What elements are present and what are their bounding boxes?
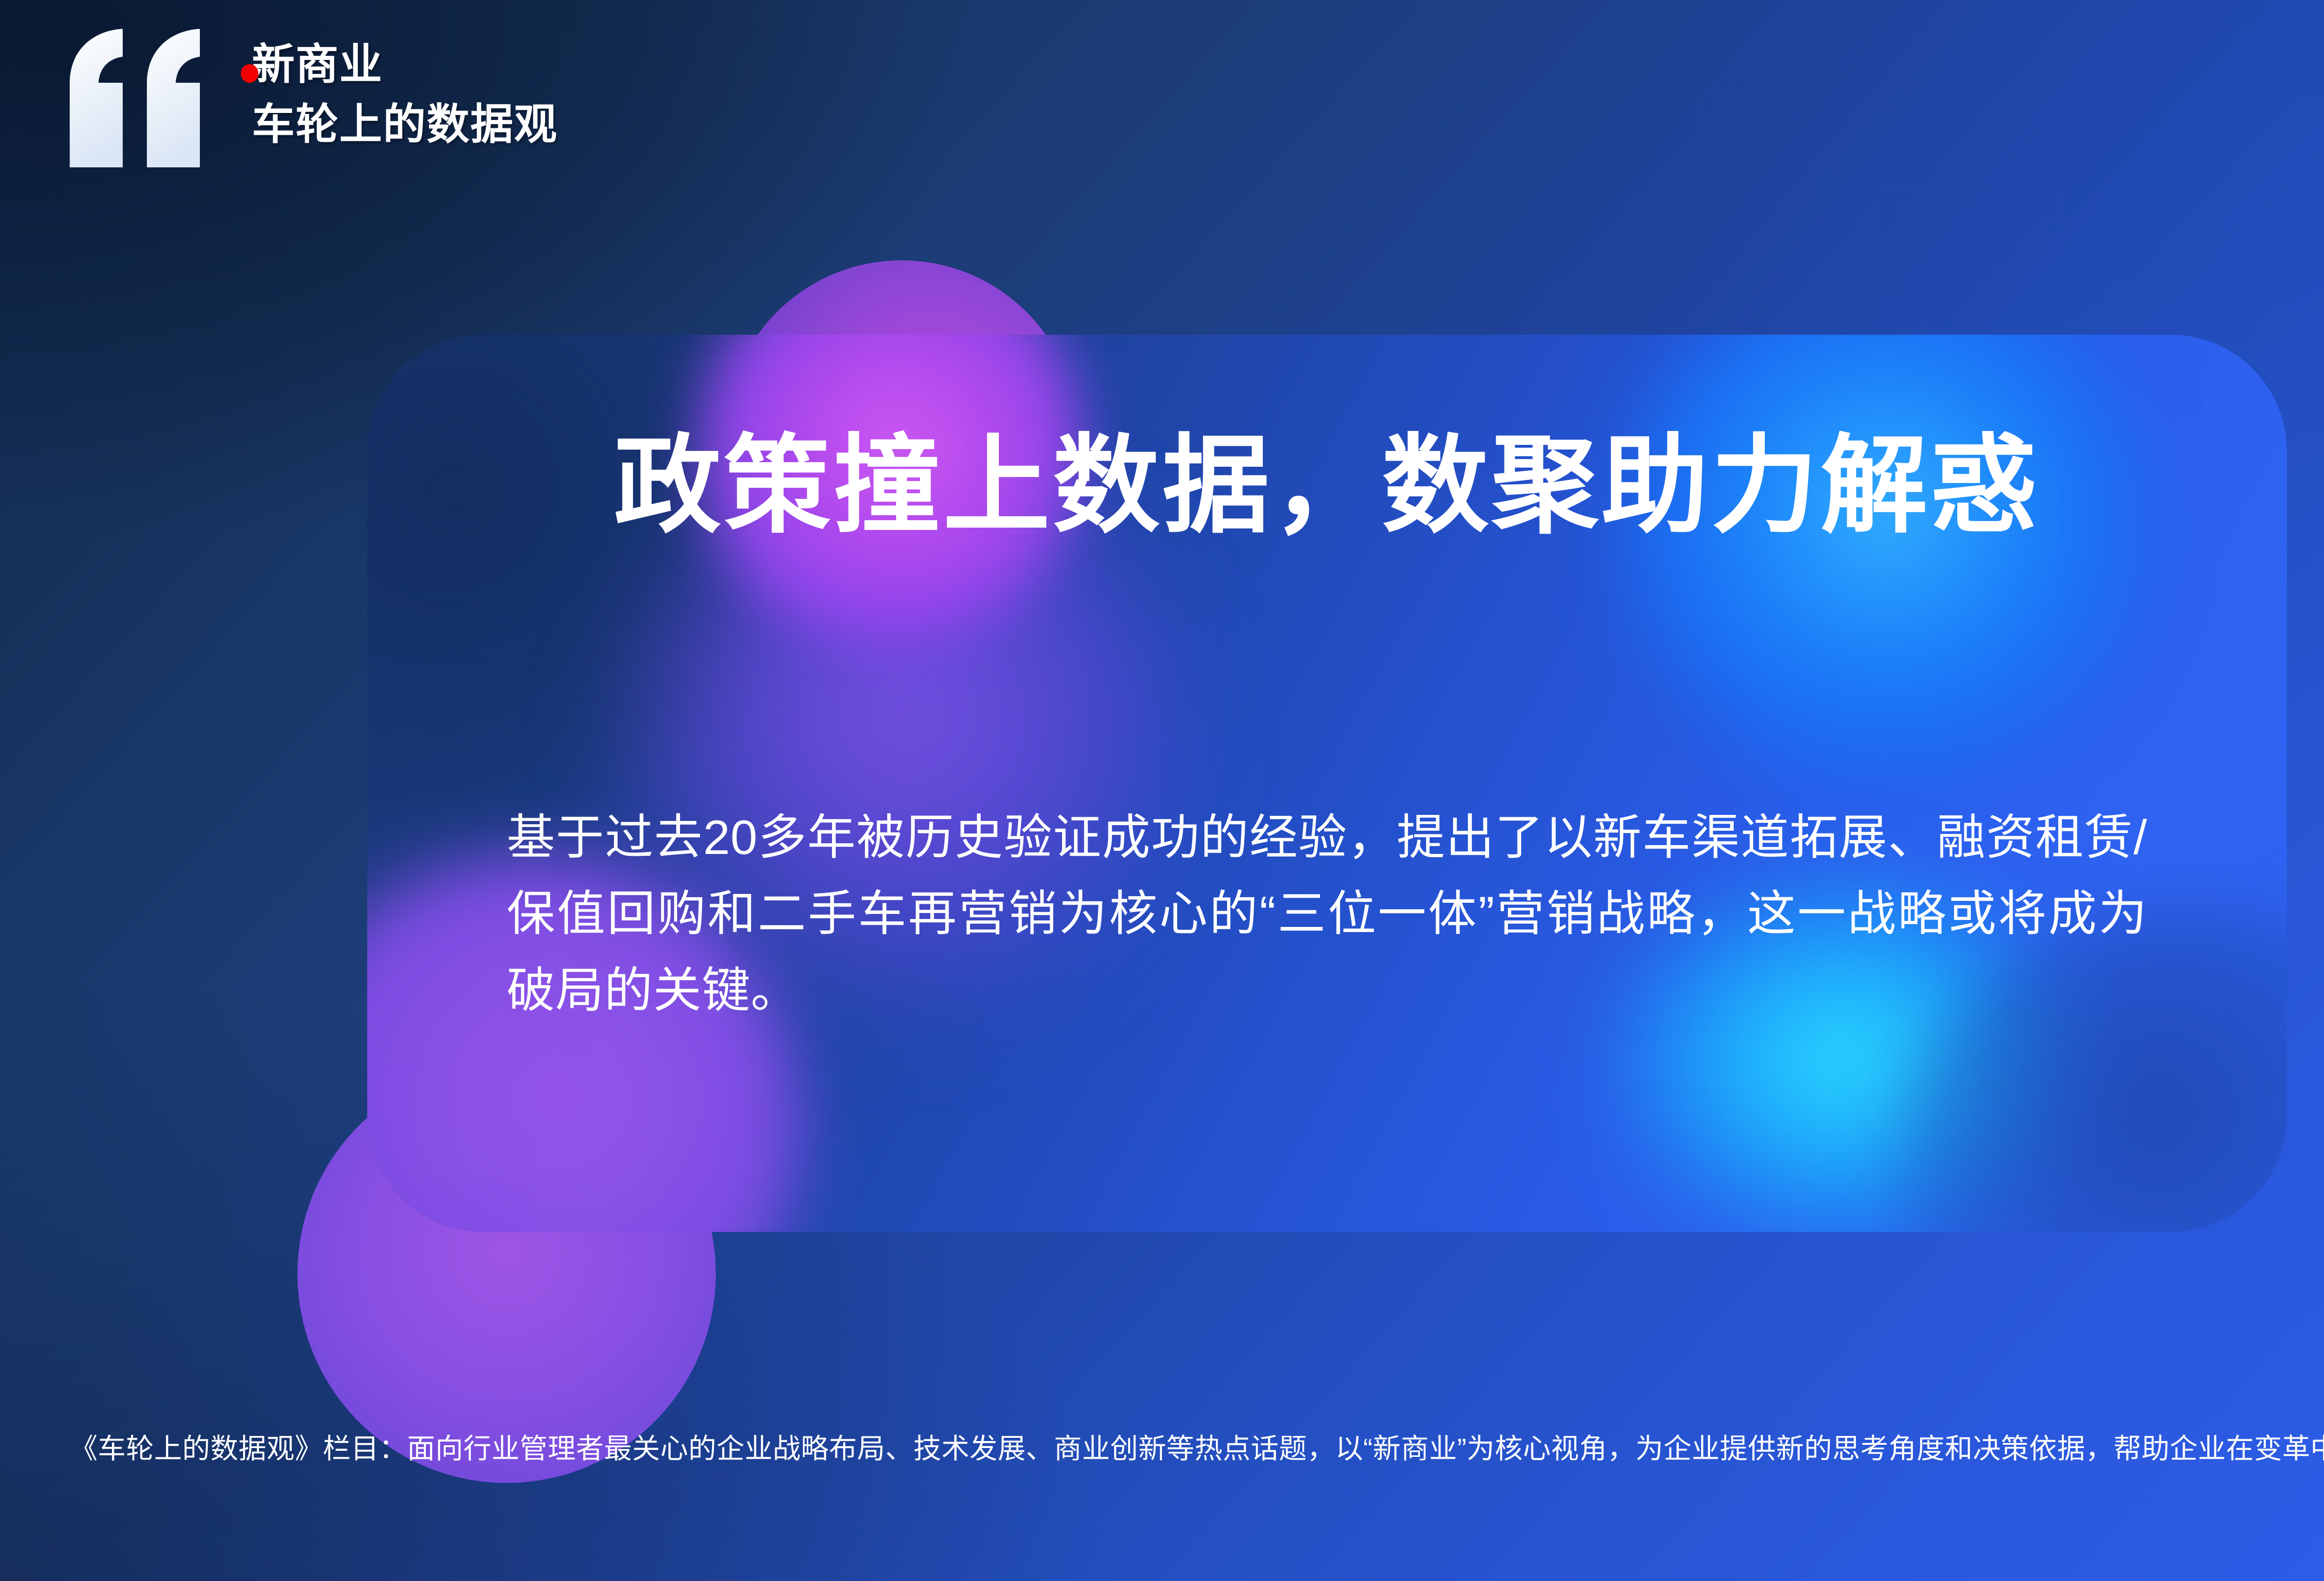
brand-logo-block: 新商业 车轮上的数据观 xyxy=(65,28,558,167)
content-card: 政策撞上数据，数聚助力解惑 基于过去20多年被历史验证成功的经验，提出了以新车渠… xyxy=(367,335,2287,1232)
brand-name-primary: 新商业 xyxy=(252,41,558,89)
card-text-layer: 政策撞上数据，数聚助力解惑 基于过去20多年被历史验证成功的经验，提出了以新车渠… xyxy=(367,335,2287,1232)
body-paragraph: 基于过去20多年被历史验证成功的经验，提出了以新车渠道拓展、融资租赁/保值回购和… xyxy=(507,800,2147,1029)
red-dot-accent-icon xyxy=(241,64,258,83)
poster-canvas: 政策撞上数据，数聚助力解惑 基于过去20多年被历史验证成功的经验，提出了以新车渠… xyxy=(0,0,2324,1581)
footer-description: 《车轮上的数据观》栏目：面向行业管理者最关心的企业战略布局、技术发展、商业创新等… xyxy=(70,1427,2324,1470)
brand-name-secondary: 车轮上的数据观 xyxy=(252,101,558,149)
double-quote-open-icon xyxy=(65,28,218,167)
page-title: 政策撞上数据，数聚助力解惑 xyxy=(367,432,2287,539)
brand-wordmark: 新商业 车轮上的数据观 xyxy=(252,28,558,149)
